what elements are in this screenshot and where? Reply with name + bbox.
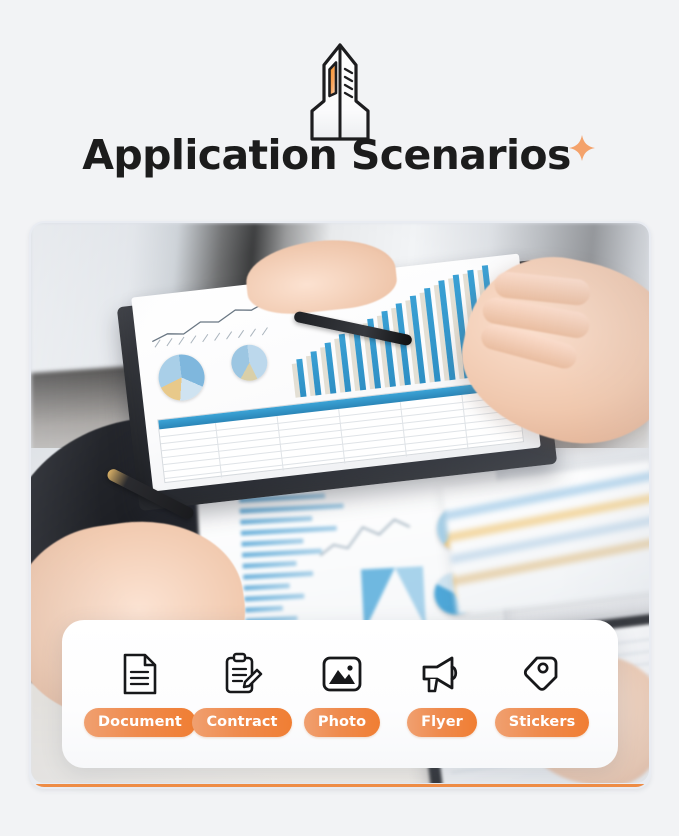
category-card: Document Contract [62, 620, 618, 768]
photo-sheet-pie-1 [156, 352, 207, 403]
building-icon [280, 39, 400, 143]
category-stickers[interactable]: Stickers [492, 651, 592, 737]
brand-logo [0, 38, 679, 143]
header: Application Scenarios [0, 0, 679, 212]
page-title: Application Scenarios [82, 131, 571, 179]
application-scenarios-banner: Application Scenarios [0, 0, 679, 836]
category-label: Contract [192, 708, 291, 737]
photo-sheet-pie-2 [229, 343, 269, 383]
category-label: Document [84, 708, 196, 737]
megaphone-icon [419, 651, 465, 697]
price-tag-icon [521, 651, 563, 697]
photo-image-icon [320, 651, 364, 697]
category-label: Flyer [407, 708, 477, 737]
sparkle-star-icon [567, 133, 597, 163]
category-document[interactable]: Document [88, 651, 192, 737]
category-label: Photo [304, 708, 380, 737]
photo-paper-linechart [316, 511, 413, 566]
title-row: Application Scenarios [0, 131, 679, 179]
photo-colored-paper [442, 461, 649, 616]
document-icon [120, 651, 160, 697]
category-flyer[interactable]: Flyer [392, 651, 492, 737]
contract-clipboard-pencil-icon [221, 651, 263, 697]
category-photo[interactable]: Photo [292, 651, 392, 737]
category-contract[interactable]: Contract [192, 651, 292, 737]
category-label: Stickers [495, 708, 590, 737]
